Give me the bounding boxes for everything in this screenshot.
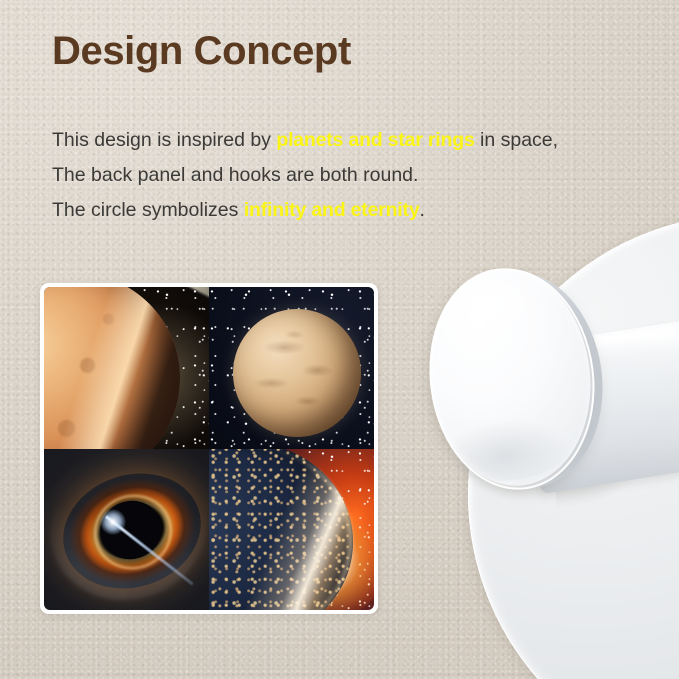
collage-tile-earth-sunrise (209, 449, 374, 611)
hook-cap-rim (417, 259, 607, 499)
line1-text-before: This design is inspired by (52, 129, 276, 151)
light-jet-core (100, 509, 126, 535)
line3-text-before: The circle symbolizes (52, 199, 244, 221)
description-line-3: The circle symbolizes infinity and etern… (52, 193, 652, 228)
hook-cap (430, 268, 606, 494)
collage-tile-black-hole (44, 449, 209, 611)
space-photo-collage (40, 283, 378, 614)
line1-highlight: planets and star rings (276, 129, 474, 151)
collage-grid (44, 287, 374, 610)
description-line-2: The back panel and hooks are both round. (52, 158, 652, 193)
description-line-1: This design is inspired by planets and s… (52, 123, 652, 158)
venus-cloud-bands (233, 309, 361, 437)
page-title: Design Concept (52, 29, 351, 74)
line3-text-after: . (419, 199, 424, 221)
product-marketing-image: Design Concept This design is inspired b… (0, 0, 679, 679)
collage-tile-ringed-planet (44, 287, 209, 449)
line3-highlight: infinity and eternity (244, 199, 420, 221)
line1-text-after: in space, (475, 129, 558, 151)
description-paragraph: This design is inspired by planets and s… (52, 123, 652, 228)
collage-tile-venus (209, 287, 374, 449)
